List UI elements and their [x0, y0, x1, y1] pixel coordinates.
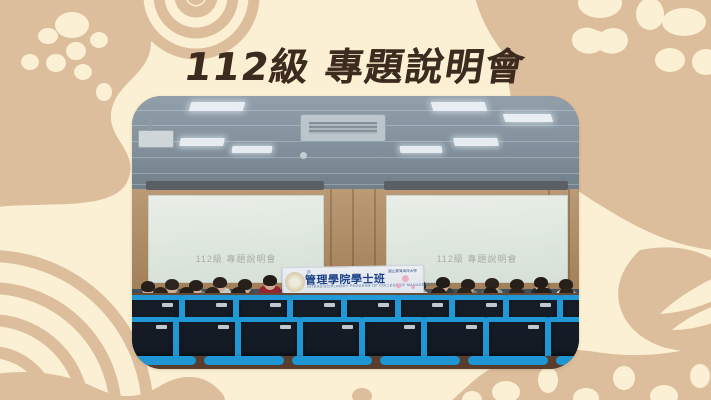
auditorium-seats: [132, 293, 579, 369]
university-seal-icon: [285, 272, 305, 292]
projection-text-right: 112級 專題說明會: [387, 252, 567, 265]
seat-front-bar: [132, 356, 196, 365]
seat-front-bar: [204, 356, 284, 365]
sakura-icon: [411, 285, 415, 289]
ceiling: [132, 96, 579, 191]
seat-front-bar: [380, 356, 460, 365]
banner-logo-text: 國立臺灣海洋大學: [388, 269, 417, 275]
projection-text-left: 112級 專題說明會: [149, 252, 323, 265]
seat: [132, 317, 178, 356]
seat: [174, 317, 240, 356]
sakura-icon: [402, 275, 409, 282]
seat: [422, 317, 488, 356]
seat: [484, 317, 550, 356]
seat: [546, 317, 579, 356]
poster-canvas: 112級 專題說明會: [0, 0, 711, 400]
seat: [236, 317, 302, 356]
banner-sub-text: INTERDISCIPLINARY PROGRAM OF COLLEGE OF …: [307, 283, 436, 289]
seat: [298, 317, 364, 356]
projector: [138, 130, 174, 148]
page-title: 112級 專題說明會: [0, 36, 711, 91]
ceiling-ac-vent: [300, 114, 386, 142]
sakura-icon: [307, 270, 311, 274]
seat: [360, 317, 426, 356]
seat-front-bar: [292, 356, 372, 365]
seat-front-bar: [468, 356, 548, 365]
group-photo: 112級 專題說明會 112級 專題說明會: [132, 96, 579, 369]
seat-front-bar: [556, 356, 579, 365]
sakura-icon: [396, 283, 401, 288]
